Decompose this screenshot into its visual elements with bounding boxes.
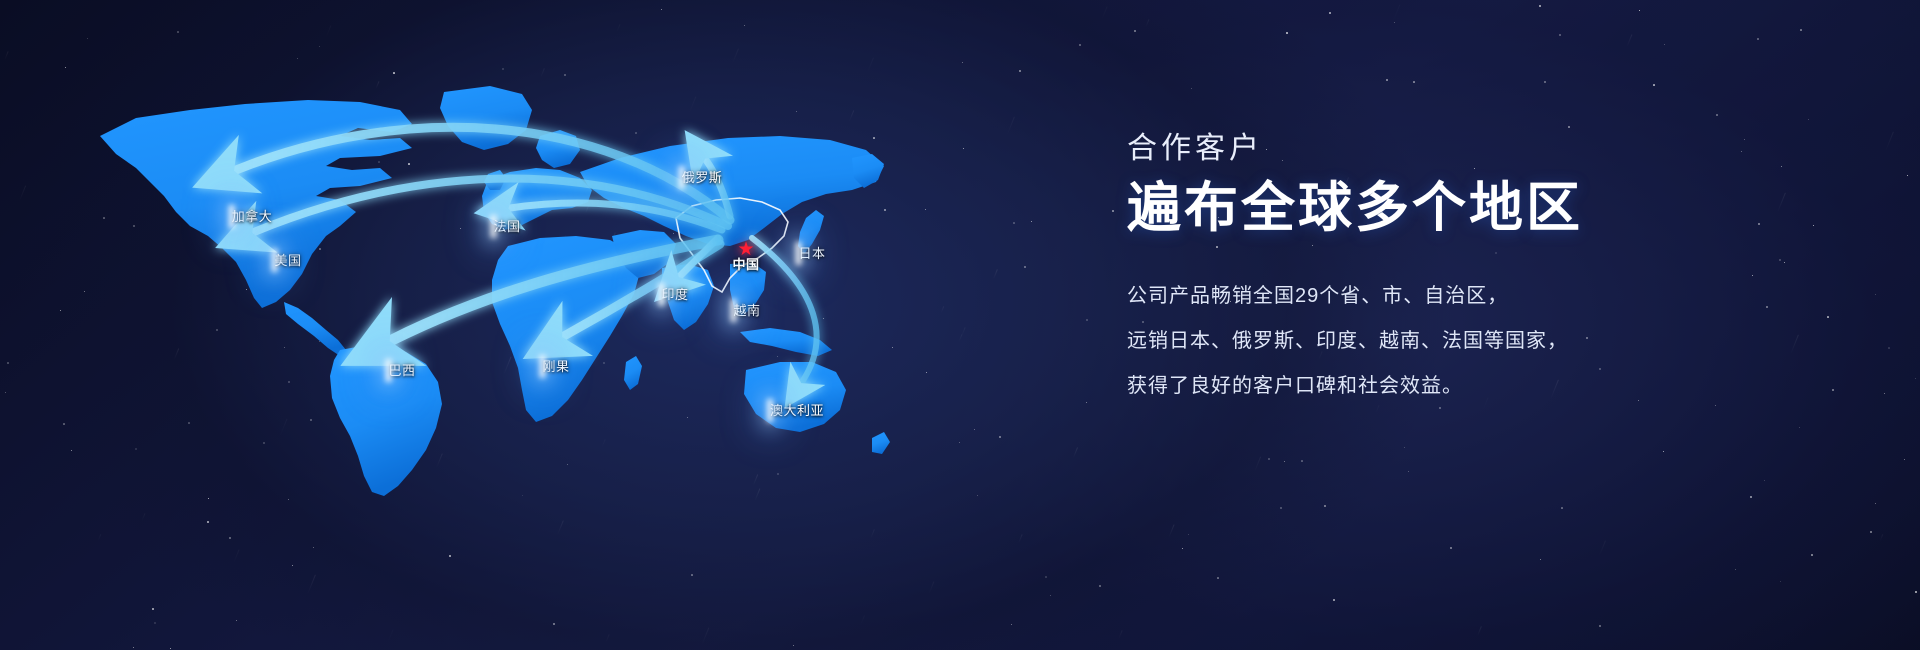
description-line: 远销日本、俄罗斯、印度、越南、法国等国家， <box>1127 326 1747 357</box>
star-streak-icon <box>1254 456 1261 472</box>
star-dot-icon <box>1333 599 1335 601</box>
star-dot-icon <box>1561 507 1563 509</box>
star-streak-icon <box>702 627 710 644</box>
star-streak-icon <box>1073 447 1078 458</box>
star-dot-icon <box>1915 591 1917 593</box>
star-dot-icon <box>1099 585 1101 587</box>
star-dot-icon <box>1907 175 1908 176</box>
star-dot-icon <box>963 148 964 149</box>
star-streak-icon <box>19 185 26 201</box>
star-dot-icon <box>1280 507 1282 509</box>
star-dot-icon <box>1019 70 1021 72</box>
star-dot-icon <box>1439 407 1441 409</box>
star-dot-icon <box>1544 81 1546 83</box>
star-dot-icon <box>1764 480 1765 481</box>
star-dot-icon <box>1599 625 1601 627</box>
star-dot-icon <box>999 436 1001 438</box>
star-marker-icon: ★ <box>732 244 759 256</box>
star-dot-icon <box>1875 294 1876 295</box>
description-line: 获得了良好的客户口碑和社会效益。 <box>1127 371 1747 402</box>
star-dot-icon <box>1086 402 1087 403</box>
star-dot-icon <box>152 608 154 610</box>
star-dot-icon <box>1284 461 1285 462</box>
star-dot-icon <box>1568 126 1570 128</box>
star-streak-icon <box>941 306 945 313</box>
landmass-new-zealand <box>872 432 890 454</box>
star-dot-icon <box>974 429 975 430</box>
map-marker-label: 加拿大 <box>232 209 273 224</box>
map-marker-label: 澳大利亚 <box>770 403 824 418</box>
star-dot-icon <box>1394 22 1395 23</box>
landmass-madagascar <box>624 356 642 390</box>
star-dot-icon <box>1663 451 1664 452</box>
star-streak-icon <box>929 581 935 593</box>
star-dot-icon <box>1188 534 1189 535</box>
star-dot-icon <box>1450 547 1452 549</box>
star-dot-icon <box>1811 554 1813 556</box>
star-streak-icon <box>1777 193 1786 213</box>
star-streak-icon <box>617 24 621 32</box>
map-marker-label: 刚果 <box>542 359 569 374</box>
star-dot-icon <box>1324 505 1326 507</box>
star-dot-icon <box>236 620 237 621</box>
star-dot-icon <box>1784 262 1785 263</box>
star-dot-icon <box>1800 29 1802 31</box>
map-marker-label: 越南 <box>733 303 760 318</box>
star-streak-icon <box>1018 534 1022 543</box>
star-dot-icon <box>1112 210 1114 212</box>
star-dot-icon <box>1875 503 1876 504</box>
banner-eyebrow: 合作客户 <box>1127 132 1747 165</box>
star-streak-icon <box>387 629 393 642</box>
star-streak-icon <box>1885 132 1894 152</box>
star-dot-icon <box>1813 225 1814 226</box>
star-dot-icon <box>1735 569 1736 570</box>
star-dot-icon <box>1750 496 1752 498</box>
star-dot-icon <box>1045 576 1047 578</box>
star-dot-icon <box>1870 531 1872 533</box>
star-dot-icon <box>1329 12 1331 14</box>
map-marker-india[interactable]: 印度 <box>661 286 688 304</box>
star-streak-icon <box>1006 117 1015 137</box>
star-dot-icon <box>1286 32 1288 34</box>
star-dot-icon <box>1888 347 1890 349</box>
star-dot-icon <box>1413 81 1415 83</box>
star-streak-icon <box>605 634 609 643</box>
map-marker-label: 俄罗斯 <box>682 170 723 185</box>
star-dot-icon <box>154 622 156 624</box>
landmass-central-america <box>284 302 346 356</box>
star-dot-icon <box>1915 378 1916 379</box>
map-marker-label: 日本 <box>798 246 825 261</box>
star-streak-icon <box>1790 335 1799 355</box>
star-streak-icon <box>1118 630 1122 639</box>
map-marker-label: 法国 <box>493 219 520 234</box>
star-dot-icon <box>962 62 963 63</box>
star-dot-icon <box>1904 459 1905 460</box>
star-dot-icon <box>5 392 6 393</box>
banner-content: 合作客户 遍布全球多个地区 公司产品畅销全国29个省、市、自治区，远销日本、俄罗… <box>1127 132 1747 402</box>
star-dot-icon <box>1758 223 1760 225</box>
star-dot-icon <box>133 647 134 648</box>
star-dot-icon <box>1766 306 1768 308</box>
world-map: 加拿大美国巴西法国刚果俄罗斯印度★中国越南日本澳大利亚 <box>40 40 940 560</box>
star-dot-icon <box>1715 405 1716 406</box>
star-dot-icon <box>744 25 745 26</box>
map-marker-congo[interactable]: 刚果 <box>542 358 569 376</box>
star-dot-icon <box>1031 221 1032 222</box>
map-marker-australia[interactable]: 澳大利亚 <box>770 402 824 420</box>
star-streak-icon <box>307 575 316 595</box>
star-dot-icon <box>553 623 555 625</box>
map-marker-france[interactable]: 法国 <box>493 218 520 236</box>
star-dot-icon <box>1639 10 1640 11</box>
star-dot-icon <box>661 9 662 10</box>
star-dot-icon <box>1011 624 1012 625</box>
map-marker-vietnam[interactable]: 越南 <box>733 302 760 320</box>
star-dot-icon <box>1540 559 1541 560</box>
map-marker-label: 印度 <box>661 287 688 302</box>
map-marker-label: 美国 <box>274 253 301 268</box>
star-streak-icon <box>1880 534 1884 541</box>
map-marker-label: 巴西 <box>388 363 415 378</box>
star-streak-icon <box>1376 405 1380 413</box>
map-marker-brazil[interactable]: 巴西 <box>388 362 415 380</box>
star-dot-icon <box>177 31 179 33</box>
star-dot-icon <box>1757 38 1759 40</box>
banner-description: 公司产品畅销全国29个省、市、自治区，远销日本、俄罗斯、印度、越南、法国等国家，… <box>1127 281 1747 402</box>
star-dot-icon <box>1217 577 1219 579</box>
star-streak-icon <box>959 334 963 342</box>
star-dot-icon <box>1799 427 1800 428</box>
map-marker-russia[interactable]: 俄罗斯 <box>682 169 723 187</box>
star-dot-icon <box>7 362 9 364</box>
star-streak-icon <box>4 51 8 60</box>
star-streak-icon <box>1146 19 1150 27</box>
star-dot-icon <box>1134 30 1136 32</box>
star-dot-icon <box>1780 581 1781 582</box>
star-dot-icon <box>1050 595 1051 596</box>
landmass-south-america <box>330 346 442 496</box>
star-dot-icon <box>1301 460 1303 462</box>
star-dot-icon <box>691 574 693 576</box>
star-streak-icon <box>1101 6 1107 19</box>
star-dot-icon <box>959 442 960 443</box>
star-dot-icon <box>1539 5 1541 7</box>
map-marker-label: 中国 <box>732 257 759 272</box>
star-dot-icon <box>1559 34 1561 36</box>
star-streak-icon <box>1168 524 1174 537</box>
star-dot-icon <box>1079 44 1081 46</box>
star-streak-icon <box>1393 4 1401 21</box>
star-streak-icon <box>1627 34 1633 46</box>
star-dot-icon <box>1832 389 1834 391</box>
star-dot-icon <box>1779 259 1781 261</box>
star-streak-icon <box>993 269 998 279</box>
map-marker-canada[interactable]: 加拿大 <box>232 208 273 226</box>
star-dot-icon <box>1716 114 1718 116</box>
star-streak-icon <box>1477 626 1482 636</box>
banner-headline: 遍布全球多个地区 <box>1127 179 1747 237</box>
star-dot-icon <box>1408 471 1409 472</box>
star-dot-icon <box>1268 458 1270 460</box>
star-dot-icon <box>87 38 88 39</box>
star-dot-icon <box>1808 119 1809 120</box>
star-dot-icon <box>1752 275 1753 276</box>
star-dot-icon <box>1013 222 1015 224</box>
star-dot-icon <box>1884 393 1885 394</box>
landmass-greenland <box>440 86 532 150</box>
star-dot-icon <box>1024 266 1026 268</box>
star-dot-icon <box>977 495 978 496</box>
world-map-svg <box>40 40 940 560</box>
star-dot-icon <box>1827 316 1829 318</box>
map-marker-japan[interactable]: 日本 <box>798 245 825 263</box>
description-line: 公司产品畅销全国29个省、市、自治区， <box>1127 281 1747 312</box>
world-map-banner: 加拿大美国巴西法国刚果俄罗斯印度★中国越南日本澳大利亚 合作客户 遍布全球多个地… <box>0 0 1920 650</box>
star-streak-icon <box>326 25 332 37</box>
star-dot-icon <box>793 645 794 646</box>
star-streak-icon <box>961 327 965 336</box>
landmass-australia <box>744 362 846 432</box>
map-marker-usa[interactable]: 美国 <box>274 252 301 270</box>
map-marker-china[interactable]: ★中国 <box>732 244 759 274</box>
star-dot-icon <box>1086 319 1088 321</box>
star-dot-icon <box>1781 166 1782 167</box>
star-dot-icon <box>1404 447 1405 448</box>
star-dot-icon <box>1386 79 1388 81</box>
star-dot-icon <box>292 565 293 566</box>
star-dot-icon <box>1653 84 1655 86</box>
star-dot-icon <box>1664 44 1665 45</box>
star-dot-icon <box>1191 88 1192 89</box>
star-streak-icon <box>1599 540 1606 555</box>
star-dot-icon <box>1182 548 1183 549</box>
star-dot-icon <box>170 648 171 649</box>
star-streak-icon <box>860 615 865 626</box>
